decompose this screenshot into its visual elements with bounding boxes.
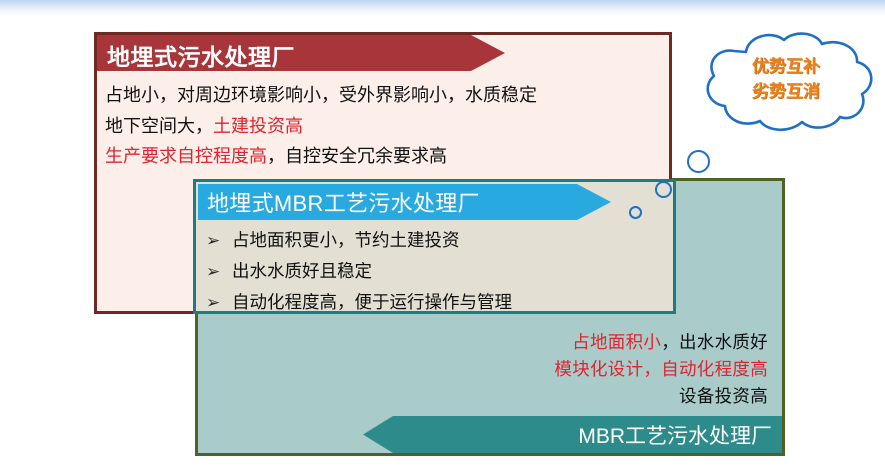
underground-plant-line-2: 地下空间大，土建投资高: [105, 111, 537, 142]
mbr-plant-banner-label: MBR工艺污水处理厂: [578, 420, 772, 450]
arrow-bullet-icon: ➢: [206, 226, 232, 256]
underground-plant-line-2-seg-2: 土建投资高: [213, 116, 303, 136]
underground-plant-line-3-seg-1: 生产要求自控程度高: [105, 146, 267, 166]
underground-plant-banner-label: 地埋式污水处理厂: [107, 38, 295, 72]
thought-bubble-large-icon: [687, 150, 710, 173]
list-item-label: 占地面积更小，节约土建投资: [232, 225, 460, 255]
thought-cloud-line-1: 优势互补: [692, 54, 880, 79]
list-item: ➢ 自动化程度高，便于运行操作与管理: [206, 287, 512, 318]
thought-cloud-line-2: 劣势互消: [692, 79, 880, 104]
underground-plant-line-2-seg-1: 地下空间大，: [105, 116, 213, 136]
underground-plant-line-3-seg-2: ，自控安全冗余要求高: [267, 146, 447, 166]
mbr-plant-line-3: 设备投资高: [554, 383, 768, 410]
slide-canvas: 占地面积小，出水水质好 模块化设计，自动化程度高 设备投资高 MBR工艺污水处理…: [0, 0, 885, 476]
arrow-bullet-icon: ➢: [206, 257, 232, 287]
underground-mbr-plant-bullet-list: ➢ 占地面积更小，节约土建投资 ➢ 出水水质好且稳定 ➢ 自动化程度高，便于运行…: [206, 225, 512, 318]
mbr-plant-line-2: 模块化设计，自动化程度高: [554, 356, 768, 383]
mbr-plant-text-block: 占地面积小，出水水质好 模块化设计，自动化程度高 设备投资高: [554, 329, 768, 410]
list-item-label: 出水水质好且稳定: [232, 256, 372, 286]
thought-bubble-small-icon: [629, 206, 642, 219]
underground-plant-text-block: 占地小，对周边环境影响小，受外界影响小，水质稳定 地下空间大，土建投资高 生产要…: [105, 80, 537, 172]
arrow-bullet-icon: ➢: [206, 288, 232, 318]
mbr-plant-line-1: 占地面积小，出水水质好: [554, 329, 768, 356]
mbr-plant-banner[interactable]: MBR工艺污水处理厂: [363, 416, 782, 453]
underground-mbr-plant-box[interactable]: 地埋式MBR工艺污水处理厂 ➢ 占地面积更小，节约土建投资 ➢ 出水水质好且稳定…: [193, 179, 676, 314]
list-item: ➢ 占地面积更小，节约土建投资: [206, 225, 512, 256]
list-item-label: 自动化程度高，便于运行操作与管理: [232, 287, 512, 317]
underground-plant-line-1: 占地小，对周边环境影响小，受外界影响小，水质稳定: [105, 80, 537, 111]
top-gradient-strip: [0, 0, 885, 16]
mbr-plant-line-3-seg-1: 设备投资高: [679, 386, 768, 406]
thought-cloud[interactable]: 优势互补 劣势互消: [692, 28, 880, 142]
mbr-plant-line-1-seg-2: ，出水水质好: [661, 332, 768, 352]
mbr-plant-line-2-seg-1: 模块化设计，自动化程度高: [554, 359, 768, 379]
list-item: ➢ 出水水质好且稳定: [206, 256, 512, 287]
underground-plant-line-3: 生产要求自控程度高，自控安全冗余要求高: [105, 141, 537, 172]
underground-plant-line-1-seg-1: 占地小，对周边环境影响小，受外界影响小，水质稳定: [105, 85, 537, 105]
underground-mbr-plant-banner-label: 地埋式MBR工艺污水处理厂: [207, 186, 480, 218]
thought-cloud-text: 优势互补 劣势互消: [692, 54, 880, 104]
mbr-plant-line-1-seg-1: 占地面积小: [572, 332, 661, 352]
thought-bubble-medium-icon: [655, 181, 672, 198]
